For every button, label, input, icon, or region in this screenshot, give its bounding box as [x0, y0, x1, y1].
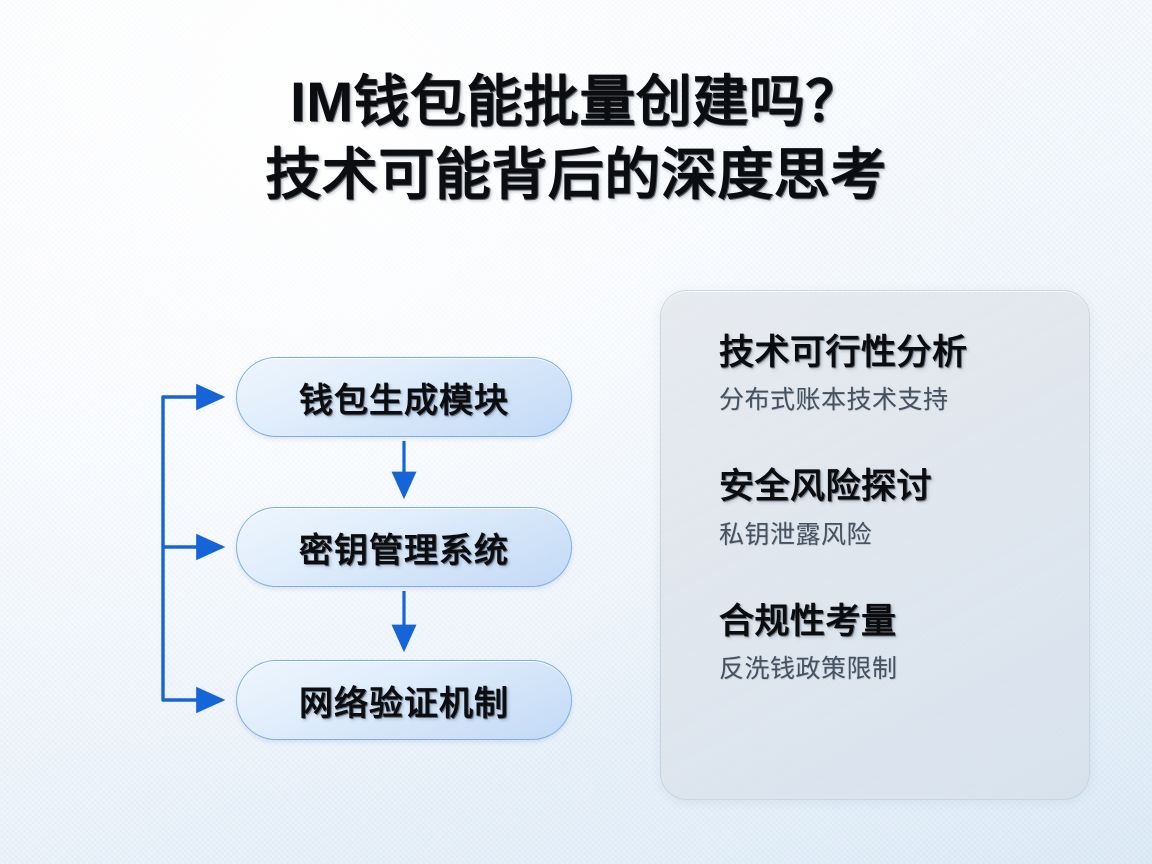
title-line-2: 技术可能背后的深度思考 [0, 139, 1152, 212]
node-label: 密钥管理系统 [299, 523, 509, 572]
node-label: 网络验证机制 [299, 676, 509, 725]
panel-item-technical-feasibility[interactable]: 技术可行性分析 分布式账本技术支持 [719, 333, 1089, 415]
page-title: IM钱包能批量创建吗？ 技术可能背后的深度思考 [0, 66, 1152, 212]
panel-item-heading: 技术可行性分析 [719, 333, 1089, 373]
panel-item-subtitle: 私钥泄露风险 [719, 520, 1089, 550]
panel-item-heading: 安全风险探讨 [719, 467, 1089, 507]
slide-canvas: IM钱包能批量创建吗？ 技术可能背后的深度思考 [0, 0, 1152, 864]
flowchart-node-key-management[interactable]: 密钥管理系统 [236, 507, 572, 587]
info-panel: 技术可行性分析 分布式账本技术支持 安全风险探讨 私钥泄露风险 合规性考量 反洗… [660, 290, 1090, 800]
node-label: 钱包生成模块 [299, 373, 509, 422]
panel-item-subtitle: 反洗钱政策限制 [719, 654, 1089, 684]
panel-item-heading: 合规性考量 [719, 602, 1089, 642]
panel-item-subtitle: 分布式账本技术支持 [719, 385, 1089, 415]
flowchart-node-network-verification[interactable]: 网络验证机制 [236, 660, 572, 740]
panel-item-compliance[interactable]: 合规性考量 反洗钱政策限制 [719, 602, 1089, 684]
panel-item-security-risk[interactable]: 安全风险探讨 私钥泄露风险 [719, 467, 1089, 549]
title-line-1: IM钱包能批量创建吗？ [0, 66, 1152, 139]
flowchart-node-wallet-generation[interactable]: 钱包生成模块 [236, 357, 572, 437]
